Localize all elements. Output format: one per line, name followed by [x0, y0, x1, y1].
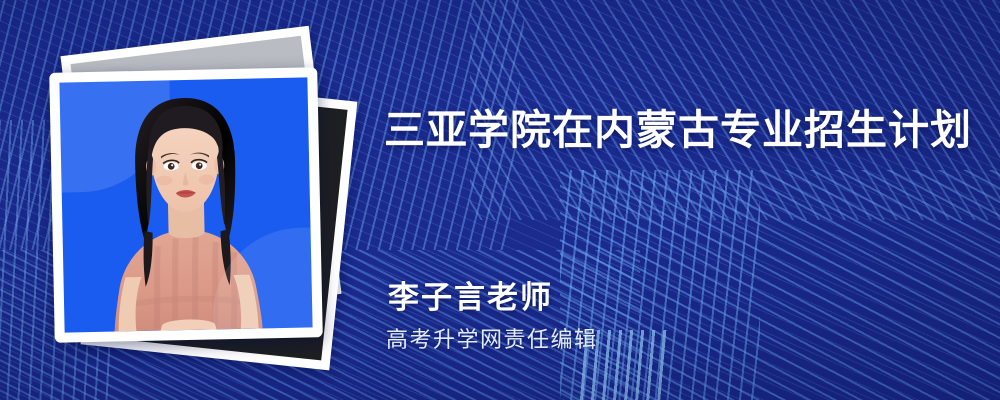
- photo-card-stack: [52, 48, 342, 348]
- photo-card-front: [49, 67, 323, 343]
- author-role: 高考升学网责任编辑: [386, 322, 598, 354]
- author-portrait-photo: [59, 77, 312, 332]
- page-title: 三亚学院在内蒙古专业招生计划: [384, 96, 972, 156]
- banner-text-block: 三亚学院在内蒙古专业招生计划 李子言老师 高考升学网责任编辑: [384, 0, 984, 400]
- author-name: 李子言老师: [388, 272, 553, 317]
- article-cover-banner: 三亚学院在内蒙古专业招生计划 李子言老师 高考升学网责任编辑: [0, 0, 1000, 400]
